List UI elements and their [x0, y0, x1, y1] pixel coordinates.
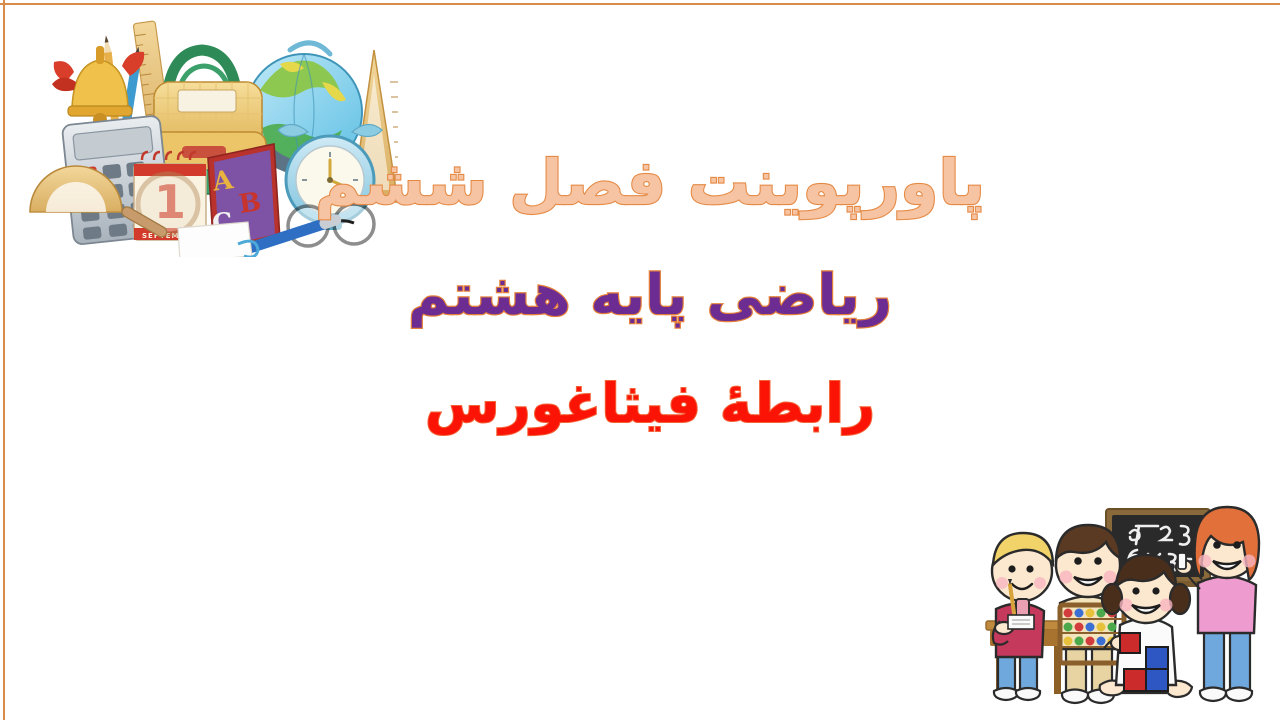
svg-text:B: B: [237, 187, 263, 220]
title-line-topic: رابطهٔ فیثاغورس: [300, 376, 1000, 433]
title-line-subject: ریاضی پایه هشتم: [300, 267, 1000, 326]
chalk-icon: [1178, 553, 1186, 569]
child-boy-blond: [992, 533, 1053, 700]
classroom-kids-clipart: [960, 495, 1280, 720]
slide-top-rule: [0, 3, 1280, 5]
slide-left-rule: [3, 0, 5, 720]
presentation-slide: 1 SEPTEMBER A B C: [0, 0, 1280, 720]
slide-title-block: پاورپوینت فصل ششم ریاضی پایه هشتم رابطهٔ…: [300, 150, 1000, 433]
paper-icon: [178, 222, 258, 257]
title-line-chapter: پاورپوینت فصل ششم: [300, 150, 1000, 215]
